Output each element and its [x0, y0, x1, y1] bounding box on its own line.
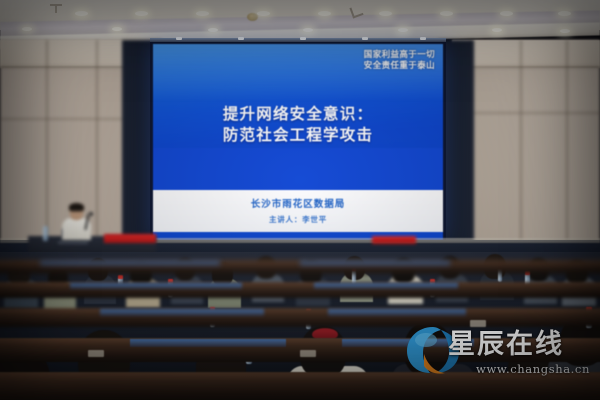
slogan-line-2: 安全责任重于泰山 [364, 61, 435, 72]
ceiling-downlight [135, 11, 148, 16]
ceiling-downlight [500, 11, 513, 16]
photograph-conference-hall: 国家利益高于一切 安全责任重于泰山 提升网络安全意识： 防范社会工程学攻击 长沙… [0, 0, 600, 400]
wall-panel-right-header [452, 40, 600, 68]
desk-screen-glow [40, 261, 220, 266]
desk-screen-glow [328, 309, 466, 316]
screen-mount-screw [238, 37, 244, 40]
slide-slogan: 国家利益高于一切 安全责任重于泰山 [364, 50, 435, 72]
ceiling-downlight [303, 28, 313, 32]
ceiling-downlight [560, 29, 570, 33]
watermark-url: www.changsha.cn [476, 362, 590, 376]
watermark-brand: 星辰在线 [448, 330, 564, 360]
ceiling-downlight [558, 11, 571, 16]
slide-title-band [153, 148, 443, 190]
wall-panel-seam [452, 112, 600, 114]
slide-speaker-name: 主讲人：李世平 [153, 214, 443, 225]
speaker-glasses-icon [71, 210, 82, 214]
ceiling-downlight [379, 11, 392, 16]
ceiling-downlight [318, 11, 331, 16]
laptop-base [58, 241, 88, 244]
screen-mount-screw [176, 37, 182, 40]
desk-screen-glow [314, 283, 458, 289]
ceiling-downlight [257, 11, 270, 16]
desk-screen-glow [70, 283, 242, 289]
slide-title: 提升网络安全意识： 防范社会工程学攻击 [153, 104, 443, 146]
screen-mount-screw [300, 37, 306, 40]
sprinkler-arm-icon [50, 4, 62, 6]
presentation-slide: 国家利益高于一切 安全责任重于泰山 提升网络安全意识： 防范社会工程学攻击 长沙… [153, 44, 443, 240]
ceiling-downlight [75, 11, 88, 16]
red-nameplate-banner [372, 236, 416, 244]
projection-screen-mount [150, 38, 446, 42]
ceiling-downlight [208, 28, 218, 32]
watermark: 星辰在线 www.changsha.cn [404, 322, 600, 386]
desk-screen-glow [300, 261, 450, 266]
screen-mount-screw [362, 37, 368, 40]
seat-number-plate [300, 350, 316, 357]
ceiling-downlight [398, 28, 408, 32]
ceiling-downlight [196, 11, 209, 16]
slide-title-line-2: 防范社会工程学攻击 [153, 125, 443, 146]
wall-panel-seam [452, 66, 600, 68]
slogan-line-1: 国家利益高于一切 [364, 50, 435, 61]
ceiling-downlight [440, 11, 453, 16]
screen-mount-screw [420, 37, 426, 40]
red-nameplate-banner [104, 234, 156, 243]
slide-organization: 长沙市雨花区数据局 [153, 196, 443, 210]
desk-screen-glow [130, 339, 286, 347]
seat-number-plate [88, 350, 104, 357]
sprinkler-icon [55, 5, 57, 13]
ceiling-downlight [22, 27, 32, 31]
slide-title-line-1: 提升网络安全意识： [153, 104, 443, 125]
bottle-cap [118, 275, 123, 279]
water-bottle [43, 226, 48, 241]
microphone-head-icon [89, 212, 93, 216]
desk-screen-glow [100, 309, 264, 316]
